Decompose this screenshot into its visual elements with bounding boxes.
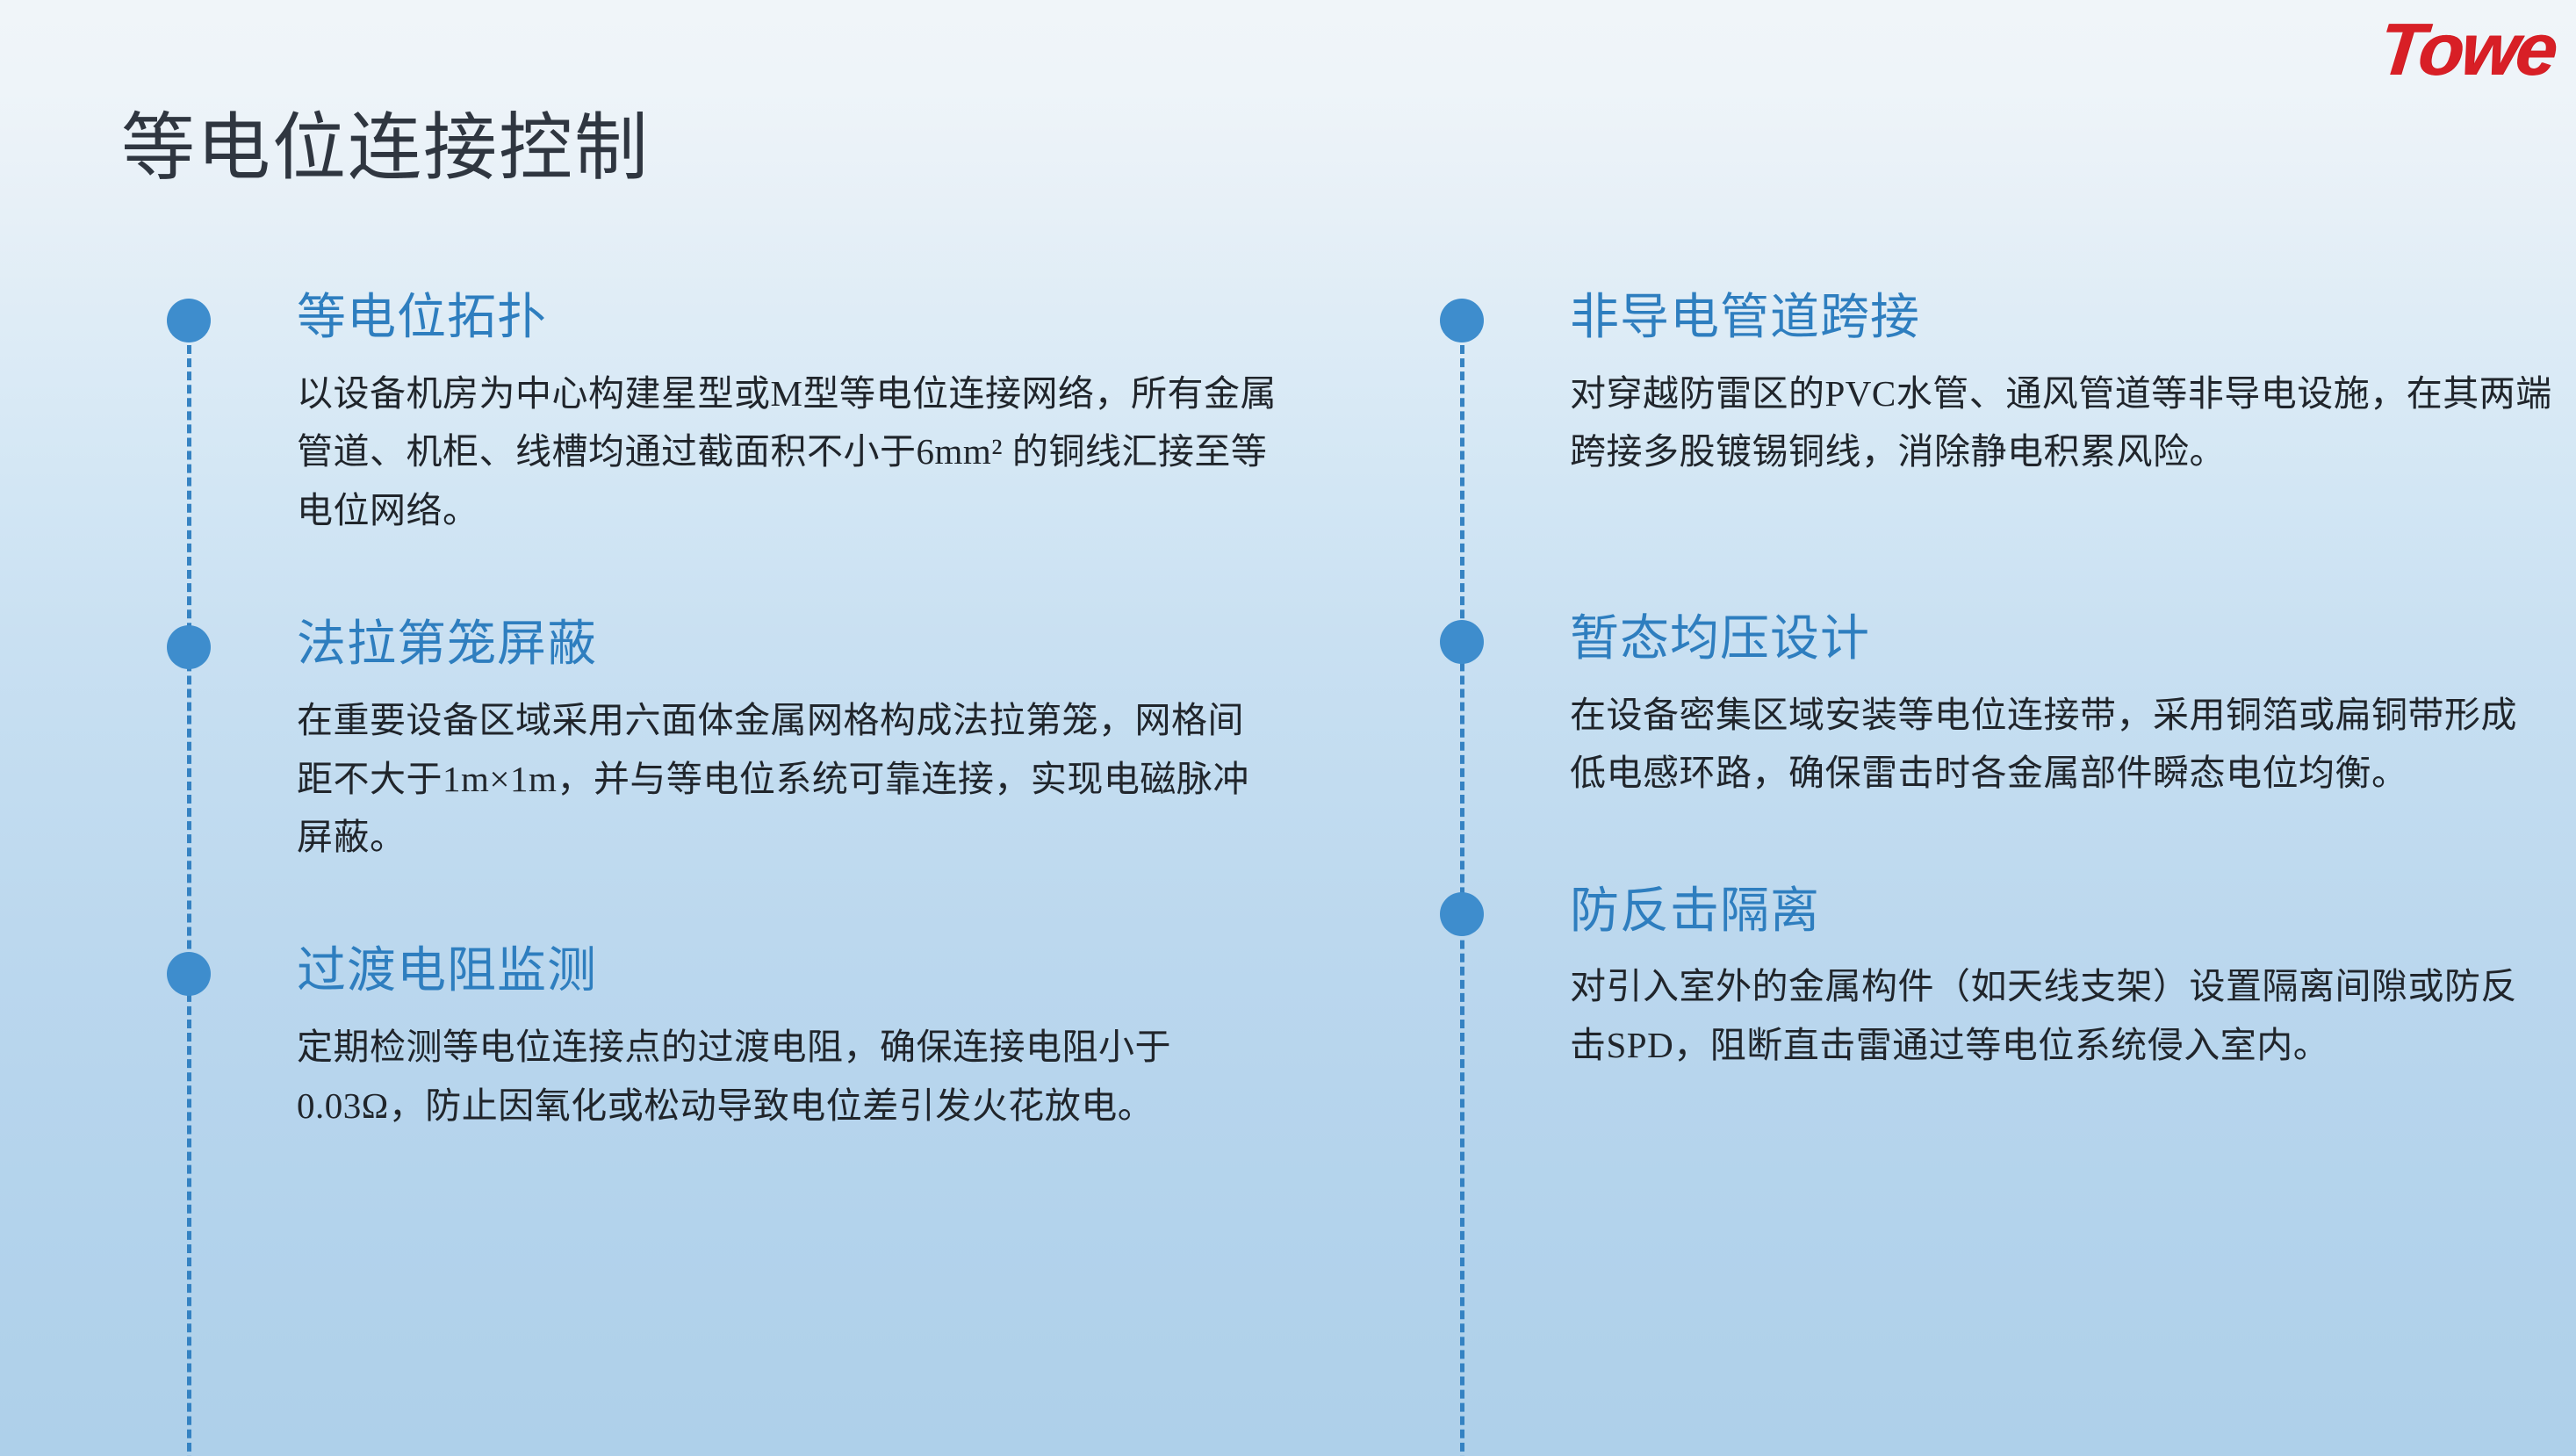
list-item[interactable]: 暂态均压设计 在设备密集区域安装等电位连接带，采用铜箔或扁铜带形成低电感环路，确… [1440,611,2576,803]
list-item[interactable]: 等电位拓扑 以设备机房为中心构建星型或M型等电位连接网络，所有金属管道、机柜、线… [167,290,1414,539]
item-body: 对引入室外的金属构件（如天线支架）设置隔离间隙或防反击SPD，阻断直击雷通过等电… [1570,957,2553,1074]
column-right: 非导电管道跨接 对穿越防雷区的PVC水管、通风管道等非导电设施，在其两端跨接多股… [1440,290,2576,1456]
bullet-dot-icon [1440,299,1484,342]
item-body: 定期检测等电位连接点的过渡电阻，确保连接电阻小于0.03Ω，防止因氧化或松动导致… [297,1018,1280,1135]
slide-canvas: Towe 等电位连接控制 等电位拓扑 以设备机房为中心构建星型或M型等电位连接网… [0,0,2576,1456]
list-item[interactable]: 过渡电阻监测 定期检测等电位连接点的过渡电阻，确保连接电阻小于0.03Ω，防止因… [167,943,1414,1135]
content-columns: 等电位拓扑 以设备机房为中心构建星型或M型等电位连接网络，所有金属管道、机柜、线… [0,290,2576,1456]
list-item[interactable]: 防反击隔离 对引入室外的金属构件（如天线支架）设置隔离间隙或防反击SPD，阻断直… [1440,883,2576,1075]
item-heading: 过渡电阻监测 [297,943,1414,1000]
list-item[interactable]: 法拉第笼屏蔽 在重要设备区域采用六面体金属网格构成法拉第笼，网格间距不大于1m×… [167,616,1414,866]
column-left: 等电位拓扑 以设备机房为中心构建星型或M型等电位连接网络，所有金属管道、机柜、线… [167,290,1414,1456]
bullet-dot-icon [1440,620,1484,664]
page-title: 等电位连接控制 [121,109,650,190]
item-body: 在重要设备区域采用六面体金属网格构成法拉第笼，网格间距不大于1m×1m，并与等电… [297,691,1280,866]
towe-logo: Towe [2376,12,2558,86]
bullet-dot-icon [167,625,211,669]
item-body: 在设备密集区域安装等电位连接带，采用铜箔或扁铜带形成低电感环路，确保雷击时各金属… [1570,686,2553,803]
item-body: 以设备机房为中心构建星型或M型等电位连接网络，所有金属管道、机柜、线槽均通过截面… [297,364,1280,539]
list-item[interactable]: 非导电管道跨接 对穿越防雷区的PVC水管、通风管道等非导电设施，在其两端跨接多股… [1440,290,2576,481]
bullet-dot-icon [1440,892,1484,936]
item-heading: 非导电管道跨接 [1570,290,2576,347]
item-heading: 暂态均压设计 [1570,611,2576,668]
item-heading: 防反击隔离 [1570,883,2576,941]
item-body: 对穿越防雷区的PVC水管、通风管道等非导电设施，在其两端跨接多股镀锡铜线，消除静… [1570,364,2553,481]
bullet-dot-icon [167,299,211,342]
item-heading: 法拉第笼屏蔽 [297,616,1414,674]
item-heading: 等电位拓扑 [297,290,1414,347]
bullet-dot-icon [167,952,211,996]
